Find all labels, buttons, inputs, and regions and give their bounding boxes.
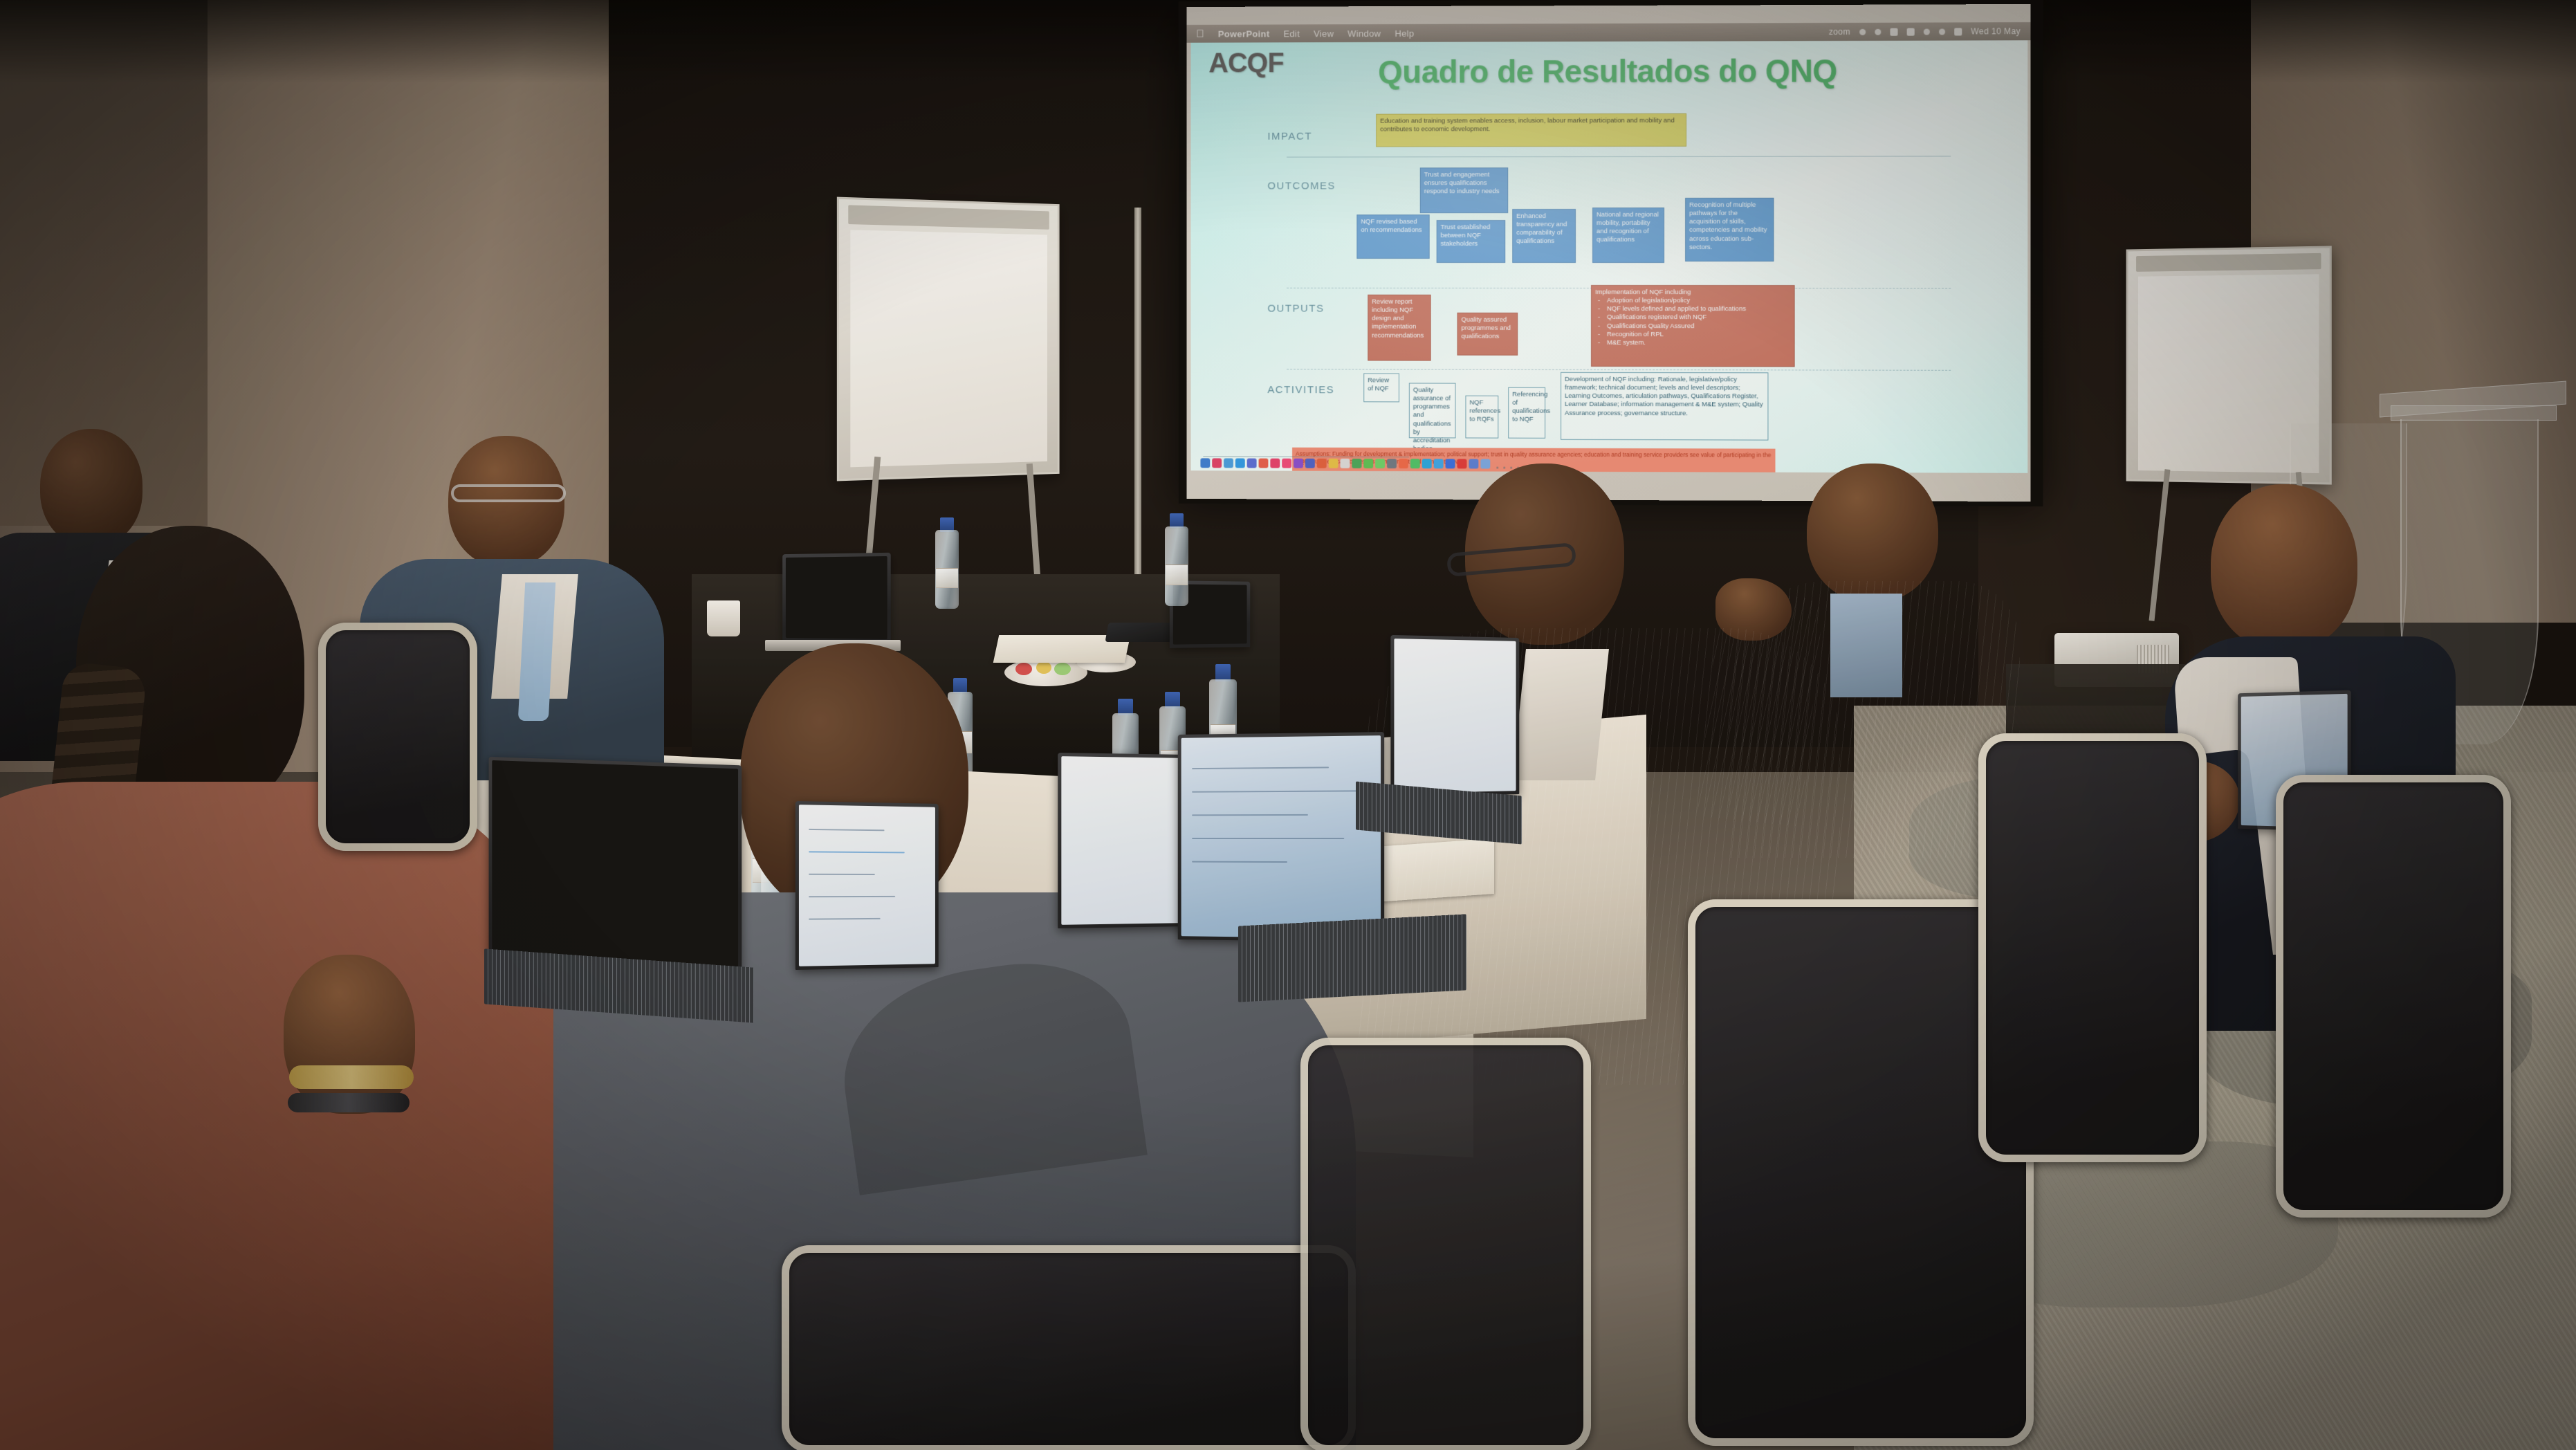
chair-center-frame[interactable] bbox=[782, 1245, 1356, 1450]
mail-icon[interactable] bbox=[1235, 458, 1245, 468]
screen-text-line bbox=[1192, 861, 1287, 863]
calendar-icon[interactable] bbox=[1259, 459, 1269, 468]
bluetooth-icon[interactable] bbox=[1875, 28, 1881, 35]
impl-item-6: M&E system. bbox=[1595, 339, 1791, 348]
outcome-box-1: Trust and engagement ensures qualificati… bbox=[1420, 167, 1508, 213]
impact-box: Education and training system enables ac… bbox=[1376, 113, 1686, 147]
impl-item-2: NQF levels defined and applied to qualif… bbox=[1595, 305, 1791, 313]
outcome-box-4: Enhanced transparency and comparability … bbox=[1512, 209, 1576, 263]
person-rust-blazer-hand bbox=[284, 955, 415, 1114]
wifi-icon[interactable] bbox=[1924, 28, 1930, 35]
outcome-box-2: NQF revised based on recommendations bbox=[1356, 214, 1429, 259]
screen-text-line bbox=[1192, 838, 1344, 839]
impl-item-5: Recognition of RPL bbox=[1595, 331, 1791, 339]
display-icon[interactable] bbox=[1890, 28, 1897, 35]
music-icon[interactable] bbox=[1282, 459, 1291, 468]
menu-help[interactable]: Help bbox=[1395, 28, 1414, 38]
flipchart-left-leg bbox=[1027, 464, 1042, 588]
impl-item-3: Qualifications registered with NQF bbox=[1595, 313, 1791, 322]
laptop-presenter-screen bbox=[786, 556, 887, 639]
person-charcoal-suit-shirt bbox=[1512, 649, 1609, 780]
tablet-left-screen bbox=[799, 805, 935, 966]
menubar-status-area[interactable]: zoom Wed 10 May bbox=[1829, 26, 2021, 37]
slide-title: Quadro de Resultados do QNQ bbox=[1191, 51, 2028, 91]
laptop-back-right-screen bbox=[1394, 639, 1516, 793]
flipchart-left-paper bbox=[851, 230, 1047, 468]
water-bottle[interactable] bbox=[935, 517, 959, 609]
activity-box-3: NQF references to RQFs bbox=[1465, 396, 1498, 439]
flipchart-left-board bbox=[837, 197, 1060, 481]
output-implementation-heading: Implementation of NQF including bbox=[1595, 288, 1791, 297]
laptop-left-delegate[interactable] bbox=[489, 757, 742, 971]
laptop-center-keyboard[interactable] bbox=[1238, 914, 1466, 1002]
impl-item-1: Adoption of legislation/policy bbox=[1595, 297, 1791, 305]
watch bbox=[288, 1093, 410, 1112]
tablet-left[interactable] bbox=[795, 801, 939, 970]
coffee-cup bbox=[707, 600, 740, 636]
chair-center-left-front[interactable] bbox=[1300, 1038, 1591, 1450]
chair-center-left-front-frame[interactable] bbox=[1300, 1038, 1591, 1450]
podcasts-icon[interactable] bbox=[1294, 459, 1303, 468]
row-label-impact: IMPACT bbox=[1267, 131, 1312, 143]
screen-text-line bbox=[1192, 767, 1329, 769]
person-light-grey-suit-collar bbox=[1830, 594, 1902, 697]
bottle-label bbox=[936, 568, 957, 589]
appstore-icon[interactable] bbox=[1317, 459, 1327, 468]
tablet-line bbox=[809, 874, 875, 875]
flipchart-left-clip bbox=[848, 205, 1049, 230]
menubar-clock[interactable]: Wed 10 May bbox=[1971, 26, 2021, 36]
reminders-icon[interactable] bbox=[1341, 459, 1350, 468]
powerpoint-slide: ACQF Quadro de Resultados do QNQ IMPACT … bbox=[1191, 40, 2028, 473]
menu-window[interactable]: Window bbox=[1347, 28, 1381, 38]
conference-room-scene:  PowerPoint Edit View Window Help zoom … bbox=[0, 0, 2576, 1450]
apple-icon[interactable]:  bbox=[1196, 28, 1204, 39]
tv-icon[interactable] bbox=[1305, 459, 1315, 468]
projection-screen:  PowerPoint Edit View Window Help zoom … bbox=[1187, 4, 2031, 502]
chair-right-back[interactable] bbox=[1978, 733, 2207, 1162]
tablet-line bbox=[809, 851, 905, 853]
activity-box-1: Review of NQF bbox=[1363, 373, 1399, 402]
menu-view[interactable]: View bbox=[1314, 28, 1334, 39]
bottle-label bbox=[1166, 565, 1187, 585]
row-label-outcomes: OUTCOMES bbox=[1267, 180, 1336, 192]
maps-icon[interactable] bbox=[1352, 459, 1361, 468]
bottle-body bbox=[935, 530, 959, 609]
divider-impact bbox=[1287, 156, 1951, 157]
laptop-presenter[interactable] bbox=[782, 553, 891, 643]
macos-menubar[interactable]:  PowerPoint Edit View Window Help zoom … bbox=[1187, 22, 2031, 43]
screen-text-line bbox=[1192, 814, 1308, 816]
activity-box-2: Quality assurance of programmes and qual… bbox=[1409, 383, 1456, 438]
outcome-box-3: Trust established between NQF stakeholde… bbox=[1437, 220, 1506, 263]
person-rust-blazer-body bbox=[0, 782, 553, 1450]
laptop-center-delegate[interactable] bbox=[1178, 732, 1384, 942]
impl-item-4: Qualifications Quality Assured bbox=[1595, 322, 1791, 331]
row-label-outputs: OUTPUTS bbox=[1267, 303, 1324, 315]
laptop-back-right[interactable] bbox=[1390, 635, 1519, 797]
chair-left-back[interactable] bbox=[318, 623, 477, 851]
chair-far-right-frame[interactable] bbox=[2276, 775, 2511, 1218]
laptop-left-delegate-screen bbox=[492, 760, 738, 967]
battery-icon[interactable] bbox=[1906, 28, 1914, 35]
search-icon[interactable] bbox=[1939, 28, 1945, 35]
lectern-lip bbox=[2391, 405, 2557, 421]
eyeglasses bbox=[451, 484, 566, 502]
chair-left-back-frame[interactable] bbox=[318, 623, 477, 851]
bottle-body bbox=[1165, 526, 1188, 606]
phone-presenter[interactable] bbox=[1105, 623, 1178, 642]
output-box-1: Review report including NQF design and i… bbox=[1368, 295, 1430, 361]
launchpad-icon[interactable] bbox=[1212, 458, 1222, 468]
screen-text-line bbox=[1192, 790, 1356, 792]
control-center-icon[interactable] bbox=[1954, 28, 1962, 35]
output-implementation-list: Adoption of legislation/policy NQF level… bbox=[1595, 297, 1791, 347]
tablet-line bbox=[809, 896, 895, 897]
zoom-status-label[interactable]: zoom bbox=[1829, 27, 1850, 37]
water-bottle[interactable] bbox=[1165, 513, 1188, 606]
contacts-icon[interactable] bbox=[1247, 459, 1257, 468]
chair-center-foreground[interactable] bbox=[782, 1245, 1356, 1450]
divider-outputs bbox=[1287, 369, 1951, 371]
laptop-center-delegate-screen bbox=[1181, 735, 1381, 939]
output-implementation-box: Implementation of NQF including Adoption… bbox=[1591, 285, 1795, 367]
outcome-box-6: Recognition of multiple pathways for the… bbox=[1685, 198, 1774, 261]
outcome-box-5: National and regional mobility, portabil… bbox=[1592, 208, 1664, 263]
safari-icon[interactable] bbox=[1224, 458, 1233, 468]
flipchart-right-clip bbox=[2136, 253, 2321, 271]
output-box-2: Quality assured programmes and qualifica… bbox=[1457, 313, 1518, 356]
row-label-activities: ACTIVITIES bbox=[1267, 384, 1334, 396]
activity-development-box: Development of NQF including: Rationale,… bbox=[1561, 372, 1768, 441]
photos-icon[interactable] bbox=[1270, 459, 1280, 468]
finder-icon[interactable] bbox=[1200, 458, 1210, 468]
activity-box-4: Referencing of qualifications to NQF bbox=[1508, 387, 1545, 439]
speaker-stand-pole bbox=[1134, 208, 1141, 595]
chair-far-right[interactable] bbox=[2276, 775, 2511, 1218]
person-navy-blazer-head bbox=[2211, 484, 2357, 650]
tablet-line bbox=[809, 829, 884, 831]
menu-edit[interactable]: Edit bbox=[1283, 28, 1300, 39]
menu-powerpoint[interactable]: PowerPoint bbox=[1218, 28, 1270, 39]
chair-right-back-frame[interactable] bbox=[1978, 733, 2207, 1162]
notes-icon[interactable] bbox=[1329, 459, 1338, 468]
tablet-line bbox=[809, 918, 881, 920]
zoom-icon[interactable] bbox=[1859, 28, 1866, 35]
bracelet bbox=[289, 1065, 414, 1089]
